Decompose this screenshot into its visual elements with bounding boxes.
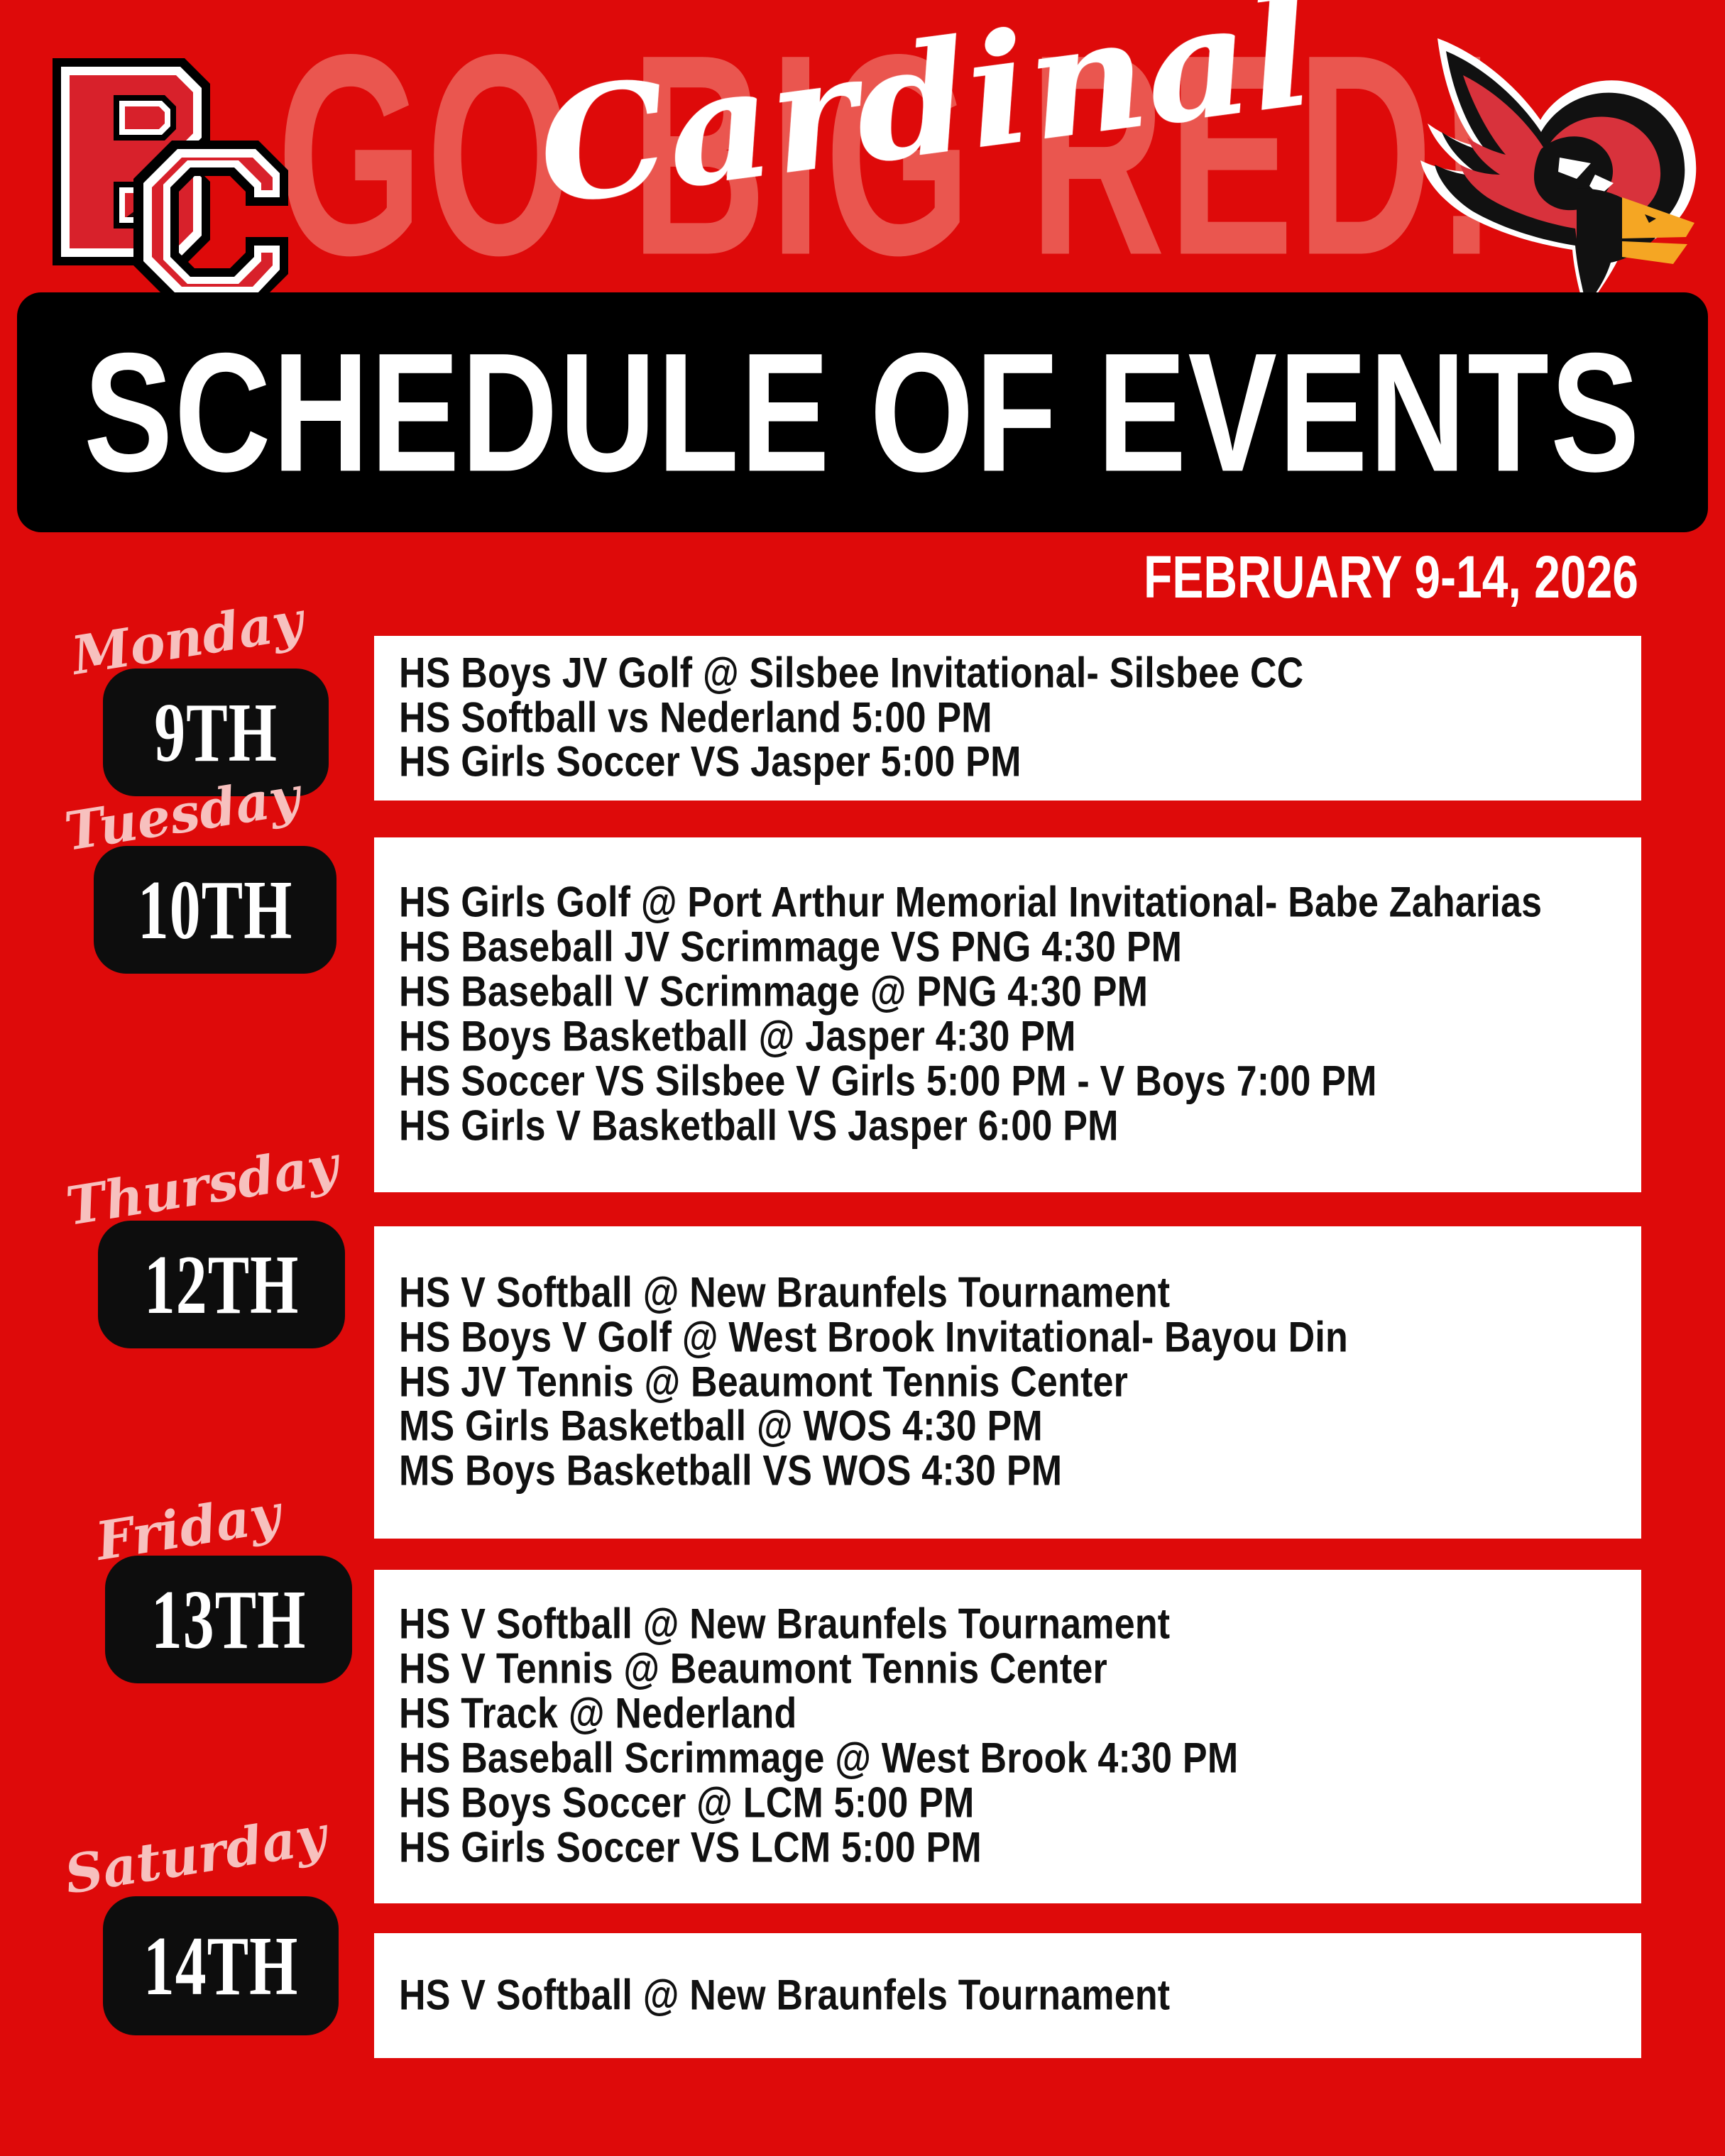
event-item: HS V Softball @ New Braunfels Tournament <box>399 1267 1628 1319</box>
poster-header: GO BIG RED! <box>0 0 1725 610</box>
day-tag-saturday: Saturday 14TH <box>0 1933 369 2058</box>
date-badge-text-tuesday: 10TH <box>138 861 293 959</box>
events-box-monday: HS Boys JV Golf @ Silsbee Invitational- … <box>374 636 1641 801</box>
schedule-banner: SCHEDULE OF EVENTS <box>17 292 1708 532</box>
date-badge-saturday: 14TH <box>103 1896 339 2035</box>
events-box-friday: HS V Softball @ New Braunfels Tournament… <box>374 1570 1641 1903</box>
date-range: FEBRUARY 9-14, 2026 <box>1144 542 1638 611</box>
event-item: HS Boys Soccer @ LCM 5:00 PM <box>399 1778 1628 1830</box>
event-item: HS Boys JV Golf @ Silsbee Invitational- … <box>399 648 1628 700</box>
date-badge-tuesday: 10TH <box>94 846 336 974</box>
day-row-saturday: Saturday 14TH HS V Softball @ New Braunf… <box>0 1933 1725 2058</box>
event-item: HS Boys V Golf @ West Brook Invitational… <box>399 1312 1628 1364</box>
day-tag-thursday: Thursday 12TH <box>0 1226 369 1539</box>
date-badge-text-thursday: 12TH <box>144 1236 300 1333</box>
event-item: HS Girls Soccer VS Jasper 5:00 PM <box>399 737 1628 788</box>
event-item: HS Girls V Basketball VS Jasper 6:00 PM <box>399 1101 1628 1153</box>
events-box-saturday: HS V Softball @ New Braunfels Tournament <box>374 1933 1641 2058</box>
page-title: SCHEDULE OF EVENTS <box>0 242 1725 583</box>
date-badge-friday: 13TH <box>105 1556 352 1683</box>
day-row-tuesday: Tuesday 10TH HS Girls Golf @ Port Arthur… <box>0 837 1725 1192</box>
event-item: HS Soccer VS Silsbee V Girls 5:00 PM - V… <box>399 1056 1628 1108</box>
event-item: HS V Softball @ New Braunfels Tournament <box>399 1970 1628 2022</box>
date-badge-text-saturday: 14TH <box>143 1917 299 2015</box>
date-badge-text-monday: 9TH <box>154 683 278 781</box>
date-badge-thursday: 12TH <box>98 1221 345 1348</box>
date-badge-text-friday: 13TH <box>151 1571 307 1668</box>
day-tag-monday: Monday 9TH <box>0 636 369 801</box>
events-box-tuesday: HS Girls Golf @ Port Arthur Memorial Inv… <box>374 837 1641 1192</box>
events-box-thursday: HS V Softball @ New Braunfels Tournament… <box>374 1226 1641 1539</box>
event-item: HS Girls Soccer VS LCM 5:00 PM <box>399 1822 1628 1874</box>
event-item: MS Boys Basketball VS WOS 4:30 PM <box>399 1446 1628 1497</box>
